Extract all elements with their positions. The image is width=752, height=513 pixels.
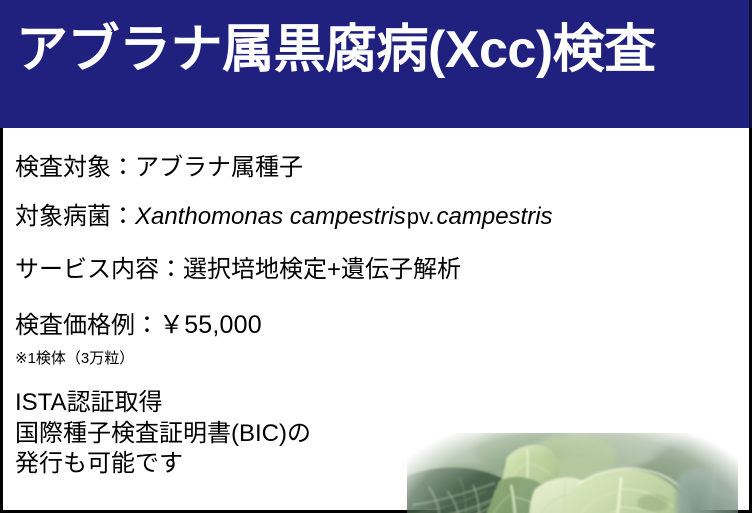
price-note: ※1検体（3万粒） <box>15 351 134 366</box>
spec-service-line: サービス内容：選択培地検定+遺伝子解析 <box>15 258 461 282</box>
spec-pathogen-line: 対象病菌：Xanthomonas campestrispv.campestris <box>15 205 553 229</box>
spec-price-line: 検査価格例：￥55,000 <box>15 313 262 338</box>
certification-line-2: 国際種子検査証明書(BIC)の <box>15 419 311 450</box>
spec-target-line: 検査対象：アブラナ属種子 <box>15 156 303 180</box>
pathogen-genus-species: Xanthomonas campestris <box>135 203 406 230</box>
slide-root: アブラナ属黒腐病(Xcc)検査 検査対象：アブラナ属種子 対象病菌：Xantho… <box>0 0 752 513</box>
cabbage-field-photo <box>407 433 738 513</box>
spec-pathogen-label: 対象病菌： <box>15 203 135 230</box>
spec-price-label: 検査価格例： <box>15 312 159 339</box>
header-band: アブラナ属黒腐病(Xcc)検査 <box>0 0 752 128</box>
certification-line-3: 発行も可能です <box>15 449 311 480</box>
spec-price-value: ￥55,000 <box>159 311 262 339</box>
certification-block: ISTA認証取得 国際種子検査証明書(BIC)の 発行も可能です <box>15 388 311 480</box>
body-panel: 検査対象：アブラナ属種子 対象病菌：Xanthomonas campestris… <box>0 128 752 513</box>
pathogen-pathovar: campestris <box>437 203 553 230</box>
spec-target-text: 検査対象：アブラナ属種子 <box>15 154 303 181</box>
spec-service-text: サービス内容：選択培地検定+遺伝子解析 <box>15 256 461 283</box>
pathogen-pathovar-prefix: pv. <box>406 204 437 229</box>
page-title: アブラナ属黒腐病(Xcc)検査 <box>16 22 726 78</box>
certification-line-1: ISTA認証取得 <box>15 388 311 419</box>
